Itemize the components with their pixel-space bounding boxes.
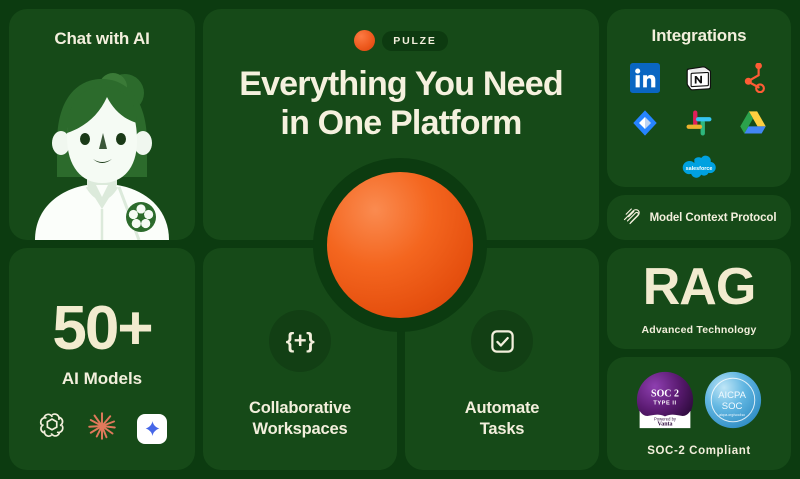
- soc2-compliance-card[interactable]: SOC 2 TYPE II Powered by Vanta: [607, 357, 791, 470]
- soc2-type2-vanta-badge: SOC 2 TYPE II Powered by Vanta: [636, 371, 694, 434]
- anthropic-claude-icon[interactable]: [87, 411, 117, 446]
- hubspot-icon[interactable]: [737, 62, 769, 94]
- chat-card-title: Chat with AI: [9, 29, 195, 49]
- automate-label-line1: Automate: [405, 398, 599, 419]
- openai-icon[interactable]: [37, 411, 67, 446]
- automate-label-line2: Tasks: [405, 419, 599, 440]
- svg-text:Vanta: Vanta: [657, 421, 672, 427]
- svg-text:SOC: SOC: [722, 401, 743, 412]
- model-context-protocol-card[interactable]: Model Context Protocol: [607, 195, 791, 240]
- collab-label-line1: Collaborative: [203, 398, 397, 419]
- collaborative-workspaces-label: Collaborative Workspaces: [203, 398, 397, 440]
- salesforce-icon[interactable]: salesforce: [625, 152, 773, 184]
- chat-with-ai-card[interactable]: Chat with AI: [9, 9, 195, 240]
- collab-label-line2: Workspaces: [203, 419, 397, 440]
- bento-grid: Chat with AI: [0, 0, 800, 479]
- integrations-card[interactable]: Integrations: [607, 9, 791, 187]
- pulze-dot-icon: [354, 30, 375, 51]
- svg-text:aicpa.org/soc4so: aicpa.org/soc4so: [719, 413, 745, 417]
- hero-heading-line2: in One Platform: [203, 104, 599, 143]
- rag-card[interactable]: RAG Advanced Technology: [607, 248, 791, 349]
- svg-text:salesforce: salesforce: [686, 166, 713, 172]
- page-title: Everything You Need in One Platform: [203, 65, 599, 143]
- compliance-badge-row: SOC 2 TYPE II Powered by Vanta: [607, 371, 791, 434]
- hero-heading-line1: Everything You Need: [203, 65, 599, 104]
- brand-name: PULZE: [382, 31, 447, 51]
- ai-models-card[interactable]: 50+ AI Models: [9, 248, 195, 470]
- google-drive-icon[interactable]: [737, 107, 769, 139]
- rag-title: RAG: [607, 261, 791, 313]
- svg-text:SOC 2: SOC 2: [651, 388, 679, 399]
- aicpa-soc-badge: AICPA SOC aicpa.org/soc4so: [704, 371, 762, 434]
- svg-text:AICPA: AICPA: [718, 390, 746, 401]
- ai-assistant-avatar: [9, 65, 195, 240]
- integrations-title: Integrations: [607, 26, 791, 46]
- ai-models-label: AI Models: [9, 369, 195, 389]
- ai-model-logo-row: [9, 411, 195, 446]
- automate-tasks-checkbox-icon: [471, 310, 533, 372]
- automate-tasks-label: Automate Tasks: [405, 398, 599, 440]
- svg-text:TYPE II: TYPE II: [653, 401, 676, 407]
- model-context-protocol-label: Model Context Protocol: [650, 212, 777, 224]
- notion-icon[interactable]: [683, 62, 715, 94]
- jira-icon[interactable]: [629, 107, 661, 139]
- ai-models-count: 50+: [9, 298, 195, 360]
- slack-icon[interactable]: [683, 107, 715, 139]
- brand-badge[interactable]: PULZE: [203, 30, 599, 51]
- linkedin-icon[interactable]: [629, 62, 661, 94]
- collaborative-workspaces-glyph: {+}: [286, 328, 314, 354]
- soc2-compliant-label: SOC-2 Compliant: [607, 445, 791, 457]
- google-gemini-icon[interactable]: [137, 414, 167, 444]
- rag-subtitle: Advanced Technology: [607, 324, 791, 336]
- collaborative-workspaces-icon: {+}: [269, 310, 331, 372]
- orange-sphere-graphic: [327, 172, 473, 318]
- model-context-protocol-icon: [622, 205, 642, 230]
- integration-logo-grid: salesforce: [607, 62, 791, 184]
